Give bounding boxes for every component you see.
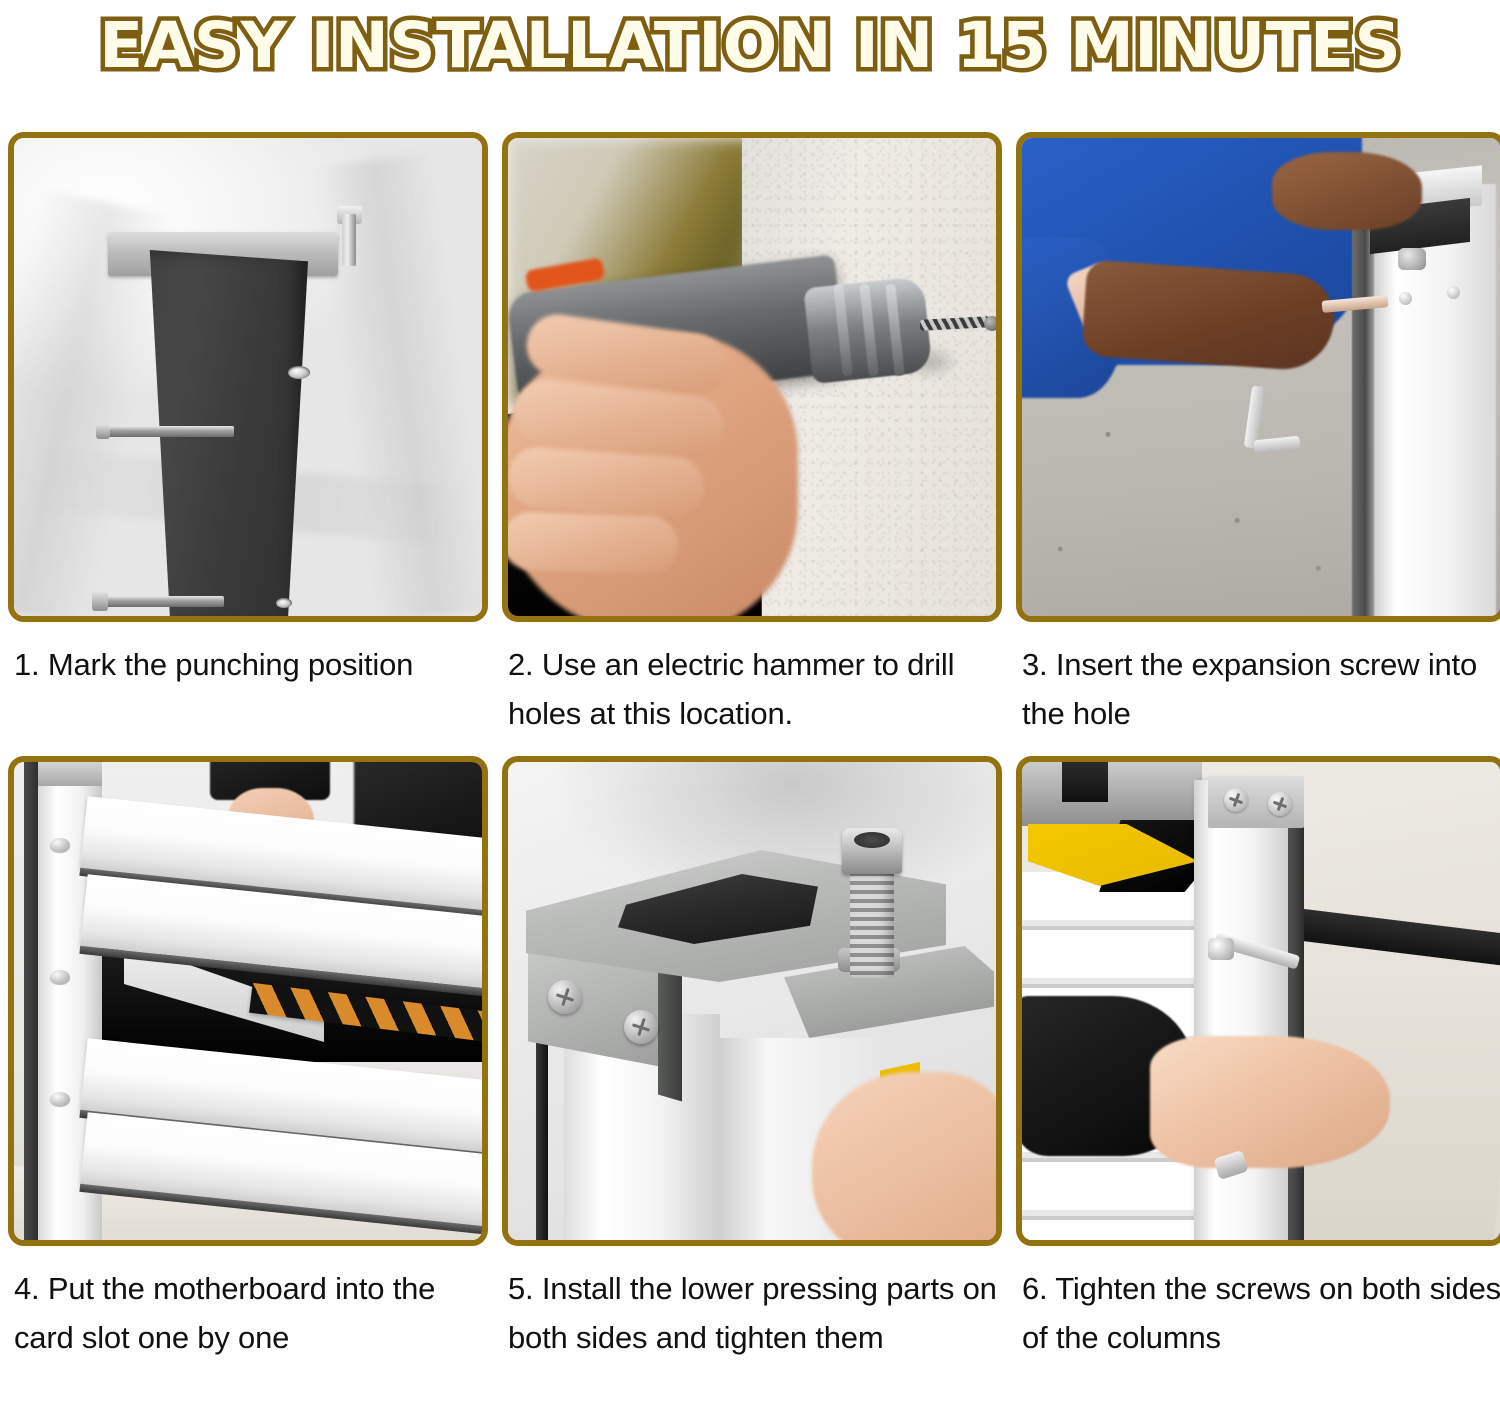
threaded-bolt — [850, 858, 894, 978]
step-photo-2 — [508, 138, 996, 616]
page-title: EASY INSTALLATION IN 15 MINUTES — [99, 11, 1401, 81]
hand — [1150, 1036, 1390, 1168]
step-photo-5 — [508, 762, 996, 1240]
mounting-hole-upper — [288, 366, 310, 379]
step-photo-4 — [14, 762, 482, 1240]
phillips-screw — [1268, 792, 1292, 816]
phillips-screw — [1224, 788, 1248, 812]
step-card-1: 1. Mark the punching position — [8, 132, 488, 738]
step-image-frame-5 — [502, 756, 1002, 1246]
expansion-screw — [1398, 248, 1426, 270]
step-image-frame-4 — [8, 756, 488, 1246]
step-card-3: 3. Insert the expansion screw into the h… — [1016, 132, 1500, 738]
worker-upper-hand — [1272, 152, 1422, 230]
step-caption-2: 2. Use an electric hammer to drill holes… — [502, 622, 1002, 738]
steps-grid: 1. Mark the punching position — [8, 132, 1492, 1362]
step-caption-3: 3. Insert the expansion screw into the h… — [1016, 622, 1500, 738]
phillips-screw — [624, 1010, 658, 1044]
step-card-6: 6. Tighten the screws on both sides of t… — [1016, 756, 1500, 1362]
step-card-4: 4. Put the motherboard into the card slo… — [8, 756, 488, 1362]
page-title-bar: EASY INSTALLATION IN 15 MINUTES — [0, 0, 1500, 92]
installation-guide-page: EASY INSTALLATION IN 15 MINUTES — [0, 0, 1500, 1403]
step-image-frame-2 — [502, 132, 1002, 622]
step-image-frame-6 — [1016, 756, 1500, 1246]
step-photo-1 — [14, 138, 482, 616]
step-photo-6 — [1022, 762, 1500, 1240]
step-image-frame-1 — [8, 132, 488, 622]
mounting-hole-lower — [276, 598, 292, 608]
step-photo-3 — [1022, 138, 1500, 616]
column-post — [126, 198, 326, 616]
step-card-2: 2. Use an electric hammer to drill holes… — [502, 132, 1002, 738]
phillips-screw — [548, 980, 582, 1014]
step-caption-4: 4. Put the motherboard into the card slo… — [8, 1246, 488, 1362]
worker-arm — [1081, 259, 1337, 372]
step-caption-6: 6. Tighten the screws on both sides of t… — [1016, 1246, 1500, 1362]
step-caption-1: 1. Mark the punching position — [8, 622, 488, 689]
step-card-5: 5. Install the lower pressing parts on b… — [502, 756, 1002, 1362]
step-caption-5: 5. Install the lower pressing parts on b… — [502, 1246, 1002, 1362]
step-image-frame-3 — [1016, 132, 1500, 622]
